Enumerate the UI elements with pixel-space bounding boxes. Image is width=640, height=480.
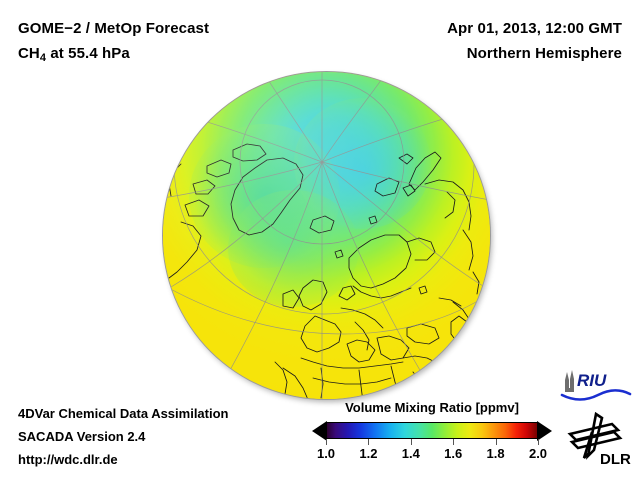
method-label: 4DVar Chemical Data Assimilation — [18, 402, 318, 425]
colorbar-tick-label: 1.6 — [444, 446, 462, 461]
colorbar: Volume Mixing Ratio [ppmv] 1.01.21.41.61… — [312, 400, 552, 464]
dlr-logo: DLR — [566, 412, 632, 470]
colorbar-tick-label: 1.8 — [487, 446, 505, 461]
footer-credits: 4DVar Chemical Data Assimilation SACADA … — [18, 402, 318, 471]
globe-map — [163, 72, 490, 399]
dlr-logo-graphic: DLR — [566, 412, 632, 470]
globe-disc — [163, 72, 490, 399]
header-right: Apr 01, 2013, 12:00 GMT Northern Hemisph… — [292, 16, 622, 66]
colorbar-tick-labels: 1.01.21.41.61.82.0 — [312, 446, 552, 464]
colorbar-title: Volume Mixing Ratio [ppmv] — [312, 400, 552, 415]
colorbar-row — [312, 421, 552, 441]
colorbar-tick — [368, 439, 369, 445]
riu-logo-graphic: RIU — [560, 368, 632, 402]
version-label: SACADA Version 2.4 — [18, 425, 318, 448]
colorbar-under-arrow — [312, 421, 327, 441]
colorbar-gradient — [326, 422, 538, 439]
globe-sheen — [163, 72, 490, 399]
cathedral-icon — [565, 370, 574, 392]
colorbar-tick — [538, 439, 539, 445]
colorbar-tick — [496, 439, 497, 445]
colorbar-tick — [453, 439, 454, 445]
colorbar-tick — [326, 439, 327, 445]
species-label: CH — [18, 45, 40, 62]
colorbar-ticks — [326, 439, 538, 445]
colorbar-tick-label: 1.2 — [359, 446, 377, 461]
riu-logo: RIU — [560, 368, 632, 402]
colorbar-tick-label: 1.0 — [317, 446, 335, 461]
colorbar-over-arrow — [537, 421, 552, 441]
timestamp-label: Apr 01, 2013, 12:00 GMT — [292, 16, 622, 41]
colorbar-tick-label: 2.0 — [529, 446, 547, 461]
website-url[interactable]: http://wdc.dlr.de — [18, 448, 318, 471]
colorbar-tick — [411, 439, 412, 445]
level-label: at 55.4 hPa — [46, 45, 130, 62]
dlr-wordmark: DLR — [600, 451, 631, 468]
colorbar-tick-label: 1.4 — [402, 446, 420, 461]
hemisphere-label: Northern Hemisphere — [292, 41, 622, 66]
riu-wordmark: RIU — [577, 371, 607, 390]
